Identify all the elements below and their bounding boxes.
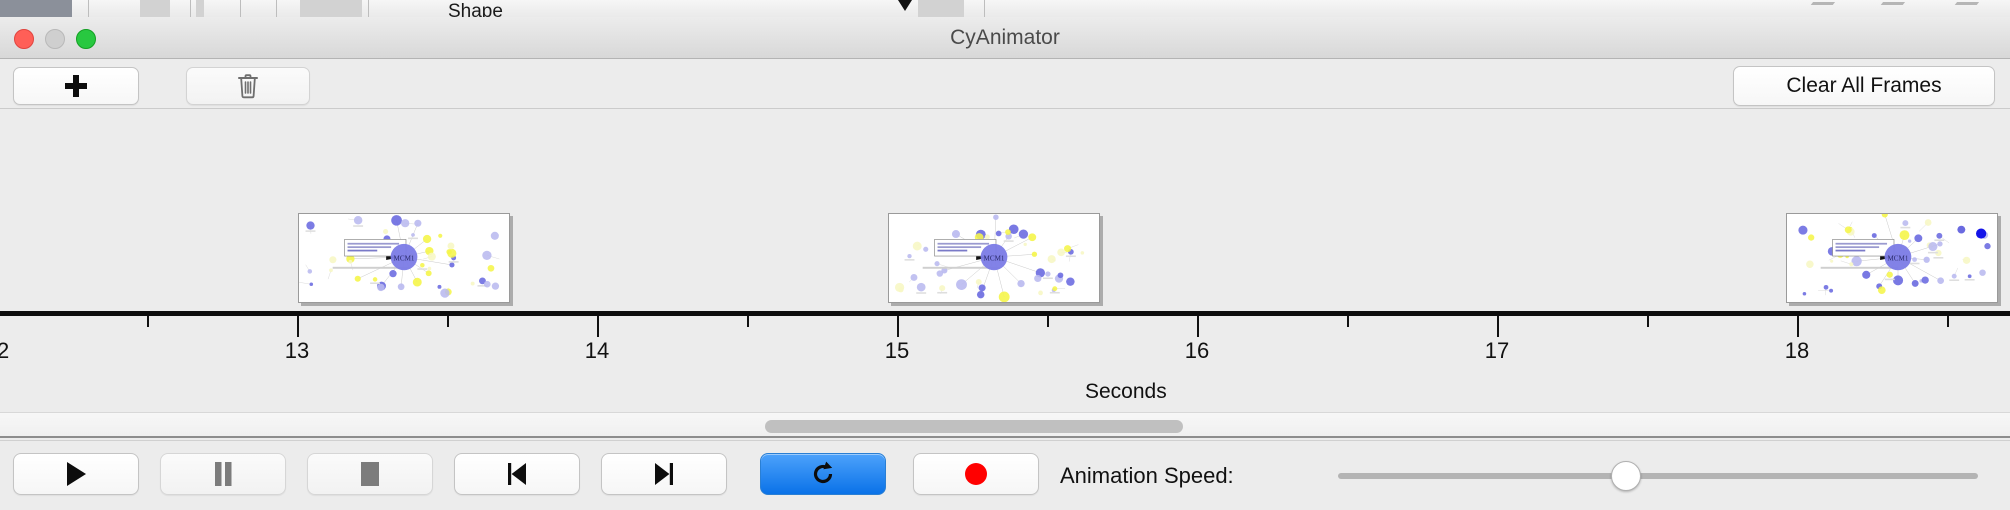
axis-tick-major (1497, 316, 1499, 337)
background-caret-icon (898, 0, 912, 11)
frame-thumbnail[interactable]: MCM1 (888, 213, 1100, 303)
previous-frame-button[interactable] (454, 453, 580, 495)
axis-tick-minor (147, 316, 149, 327)
background-gray-block-2 (196, 0, 204, 17)
title-bar: CyAnimator (0, 17, 2010, 59)
axis-tick-label: 18 (1767, 338, 1827, 364)
play-icon (63, 460, 89, 488)
add-frame-button[interactable] (13, 67, 139, 105)
axis-tick-major (597, 316, 599, 337)
skip-back-icon (504, 460, 530, 488)
axis-tick-major (297, 316, 299, 337)
axis-tick-minor (1947, 316, 1949, 327)
timeline-scrollbar[interactable] (0, 412, 2010, 438)
delete-frame-button[interactable] (186, 67, 310, 105)
background-gray-block-3 (300, 0, 362, 17)
background-divider-5 (368, 0, 369, 17)
trash-icon (236, 73, 260, 99)
frame-thumbnail[interactable]: MCM1 (1786, 213, 1998, 303)
play-button[interactable] (13, 453, 139, 495)
background-gray-block-1 (140, 0, 170, 17)
background-slash-3 (1947, 2, 1979, 15)
stop-button[interactable] (307, 453, 433, 495)
animation-speed-slider-thumb[interactable] (1611, 461, 1641, 491)
clear-all-frames-button[interactable]: Clear All Frames (1733, 66, 1995, 106)
axis-tick-major (1797, 316, 1799, 337)
axis-tick-minor (447, 316, 449, 327)
window-title: CyAnimator (0, 17, 2010, 59)
axis-tick-label: 14 (567, 338, 627, 364)
axis-tick-major (897, 316, 899, 337)
axis-title: Seconds (1085, 380, 1285, 404)
background-divider-3 (240, 0, 241, 17)
svg-text:MCM1: MCM1 (394, 254, 415, 262)
zoom-button[interactable] (76, 29, 96, 49)
background-divider-6 (984, 0, 985, 17)
frame-thumbnail-image: MCM1 (889, 214, 1099, 302)
stop-icon (359, 461, 381, 487)
plus-icon (65, 75, 87, 97)
axis-tick-major (1197, 316, 1199, 337)
axis-tick-label: 13 (267, 338, 327, 364)
background-divider-1 (88, 0, 89, 17)
svg-text:MCM1: MCM1 (1887, 254, 1908, 262)
background-gray-block-4 (918, 0, 964, 17)
background-dark-block (0, 0, 72, 17)
pause-button[interactable] (160, 453, 286, 495)
background-divider-2 (190, 0, 191, 17)
axis-tick-minor (1347, 316, 1349, 327)
axis-tick-label: 16 (1167, 338, 1227, 364)
pause-icon (211, 461, 235, 487)
frame-thumbnail-image: MCM1 (1787, 214, 1997, 302)
background-window-strip: Shape (0, 0, 2010, 17)
clear-all-frames-label: Clear All Frames (1786, 74, 1941, 98)
background-slash-1 (1803, 2, 1835, 15)
traffic-light-buttons (14, 29, 96, 49)
axis-tick-label: 17 (1467, 338, 1527, 364)
background-slash-2 (1873, 2, 1905, 15)
timeline-axis-line (0, 311, 2010, 316)
animation-speed-slider[interactable] (1338, 473, 1978, 479)
axis-tick-label: 15 (867, 338, 927, 364)
next-frame-button[interactable] (601, 453, 727, 495)
animation-speed-label: Animation Speed: (1060, 463, 1234, 489)
frame-thumbnail[interactable]: MCM1 (298, 213, 510, 303)
axis-tick-minor (747, 316, 749, 327)
close-button[interactable] (14, 29, 34, 49)
toolbar: Clear All Frames (0, 59, 2010, 109)
record-icon (963, 461, 989, 487)
axis-tick-label: 12 (0, 338, 27, 364)
minimize-button[interactable] (45, 29, 65, 49)
background-window-word: Shape (448, 1, 503, 17)
loop-icon (808, 459, 838, 489)
loop-button[interactable] (760, 453, 886, 495)
record-button[interactable] (913, 453, 1039, 495)
background-divider-4 (276, 0, 277, 17)
playback-toolbar: Animation Speed: (0, 440, 2010, 510)
axis-tick-minor (1047, 316, 1049, 327)
svg-text:MCM1: MCM1 (984, 254, 1005, 262)
axis-tick-minor (1647, 316, 1649, 327)
skip-forward-icon (651, 460, 677, 488)
timeline-scrollbar-thumb[interactable] (765, 420, 1183, 433)
frame-thumbnail-image: MCM1 (299, 214, 509, 302)
cyanimator-window: Shape CyAnimator Clear All Frames (0, 0, 2010, 510)
